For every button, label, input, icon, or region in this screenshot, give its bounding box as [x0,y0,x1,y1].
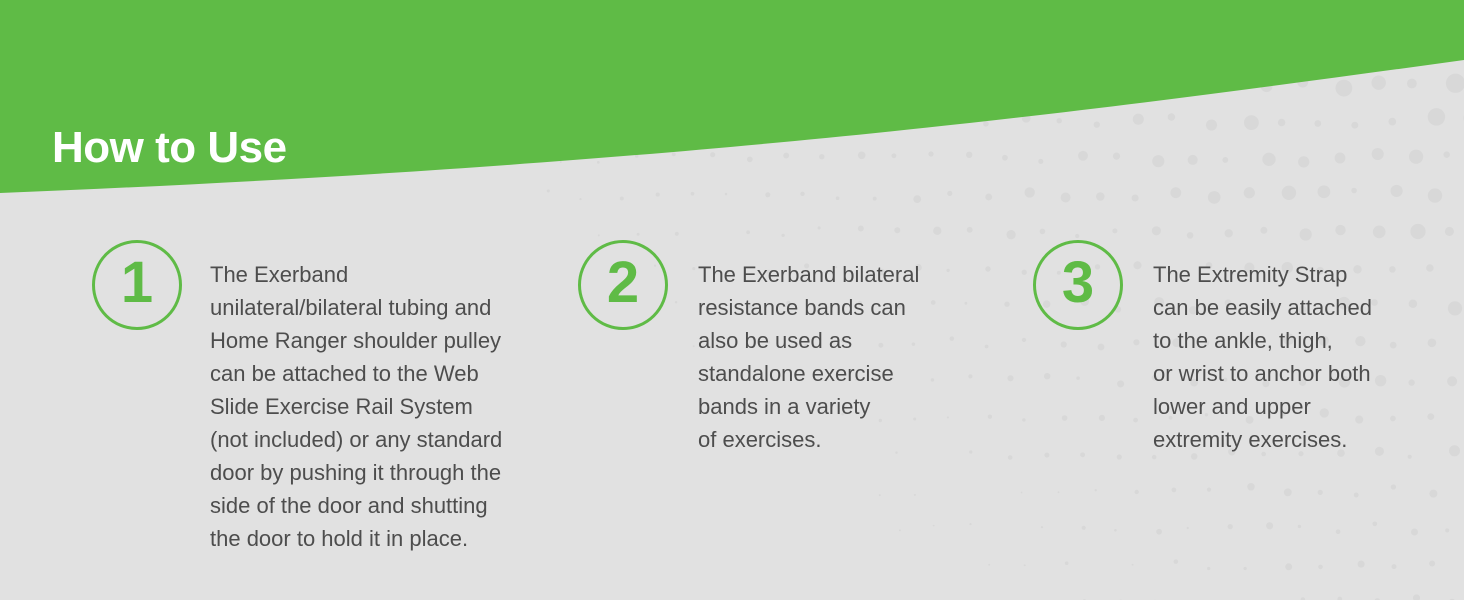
step-item-3: 3 The Extremity Strap can be easily atta… [1033,236,1413,478]
how-to-use-banner: How to Use 1 The Exerband unilateral/bil… [0,0,1464,600]
step-description-2: The Exerband bilateral resistance bands … [698,258,998,456]
step-item-2: 2 The Exerband bilateral resistance band… [578,236,998,478]
step-item-1: 1 The Exerband unilateral/bilateral tubi… [92,236,544,577]
step-number-3: 3 [1062,254,1094,312]
step-number-2: 2 [607,254,639,312]
step-description-3: The Extremity Strap can be easily attach… [1153,258,1413,456]
steps-list: 1 The Exerband unilateral/bilateral tubi… [0,236,1464,577]
page-title: How to Use [52,123,287,173]
step-number-badge-1: 1 [92,240,182,330]
step-number-badge-3: 3 [1033,240,1123,330]
step-description-1: The Exerband unilateral/bilateral tubing… [210,258,544,555]
step-number-1: 1 [121,254,153,312]
step-number-badge-2: 2 [578,240,668,330]
